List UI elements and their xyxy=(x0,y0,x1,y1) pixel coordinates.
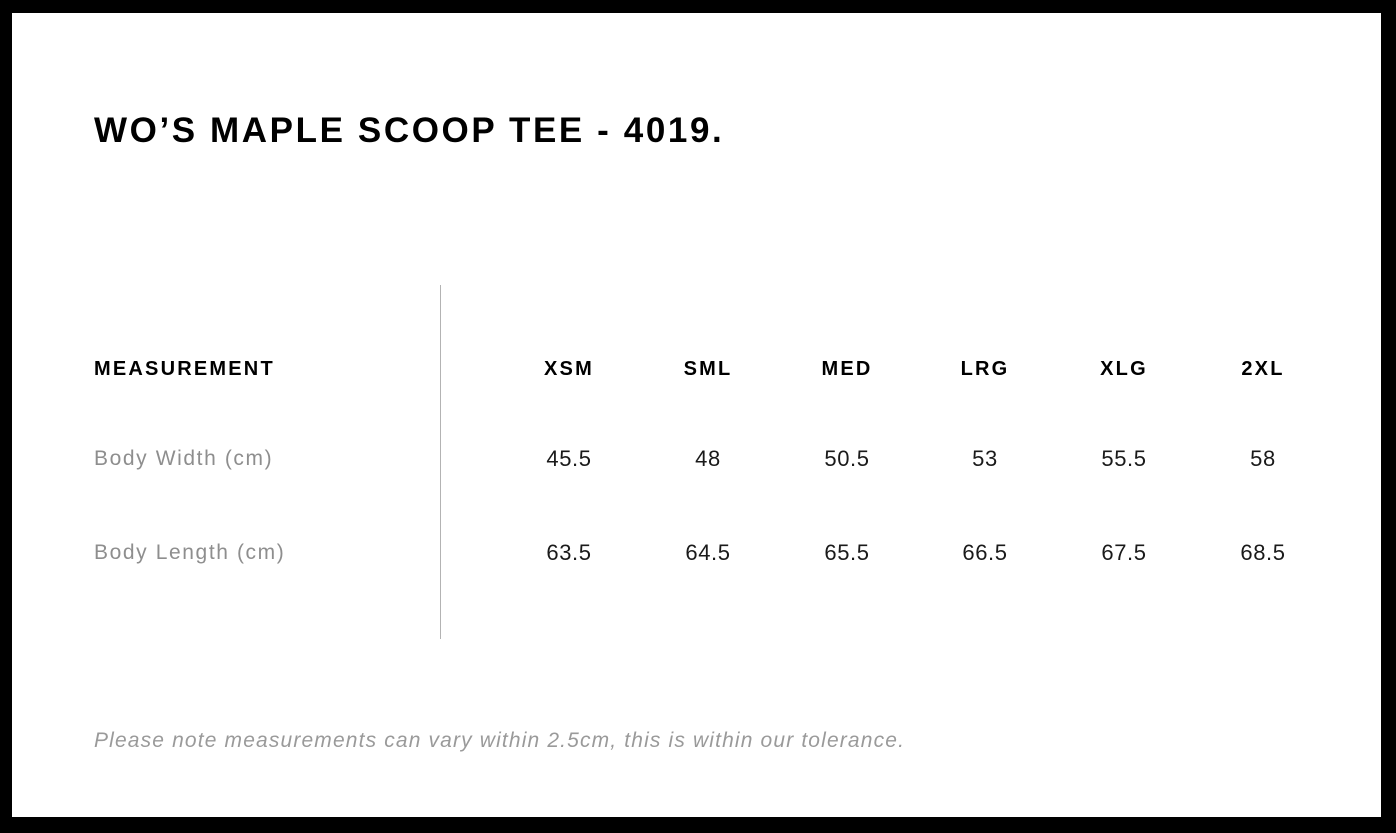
page-title: WO’S MAPLE SCOOP TEE - 4019. xyxy=(94,110,724,152)
cell-body-length-lrg: 66.5 xyxy=(915,538,1055,568)
cell-body-width-xsm: 45.5 xyxy=(499,444,639,474)
column-header-lrg: LRG xyxy=(915,354,1055,384)
column-header-measurement: MEASUREMENT xyxy=(94,354,275,384)
row-label-body-length: Body Length (cm) xyxy=(94,538,285,568)
cell-body-width-lrg: 53 xyxy=(915,444,1055,474)
cell-body-width-2xl: 58 xyxy=(1193,444,1333,474)
size-chart-frame: WO’S MAPLE SCOOP TEE - 4019. MEASUREMENT… xyxy=(0,0,1396,833)
column-header-xsm: XSM xyxy=(499,354,639,384)
cell-body-length-sml: 64.5 xyxy=(638,538,778,568)
cell-body-length-xsm: 63.5 xyxy=(499,538,639,568)
column-header-xlg: XLG xyxy=(1054,354,1194,384)
size-chart-canvas: WO’S MAPLE SCOOP TEE - 4019. MEASUREMENT… xyxy=(12,13,1381,817)
column-header-2xl: 2XL xyxy=(1193,354,1333,384)
row-label-body-width: Body Width (cm) xyxy=(94,444,273,474)
cell-body-length-2xl: 68.5 xyxy=(1193,538,1333,568)
tolerance-note: Please note measurements can vary within… xyxy=(94,729,905,753)
table-row: Body Length (cm) 63.5 64.5 65.5 66.5 67.… xyxy=(12,538,1381,568)
cell-body-width-xlg: 55.5 xyxy=(1054,444,1194,474)
cell-body-width-sml: 48 xyxy=(638,444,778,474)
table-row: Body Width (cm) 45.5 48 50.5 53 55.5 58 xyxy=(12,444,1381,474)
cell-body-width-med: 50.5 xyxy=(777,444,917,474)
table-header-row: MEASUREMENT XSM SML MED LRG XLG 2XL xyxy=(12,354,1381,384)
cell-body-length-xlg: 67.5 xyxy=(1054,538,1194,568)
cell-body-length-med: 65.5 xyxy=(777,538,917,568)
column-header-sml: SML xyxy=(638,354,778,384)
column-header-med: MED xyxy=(777,354,917,384)
